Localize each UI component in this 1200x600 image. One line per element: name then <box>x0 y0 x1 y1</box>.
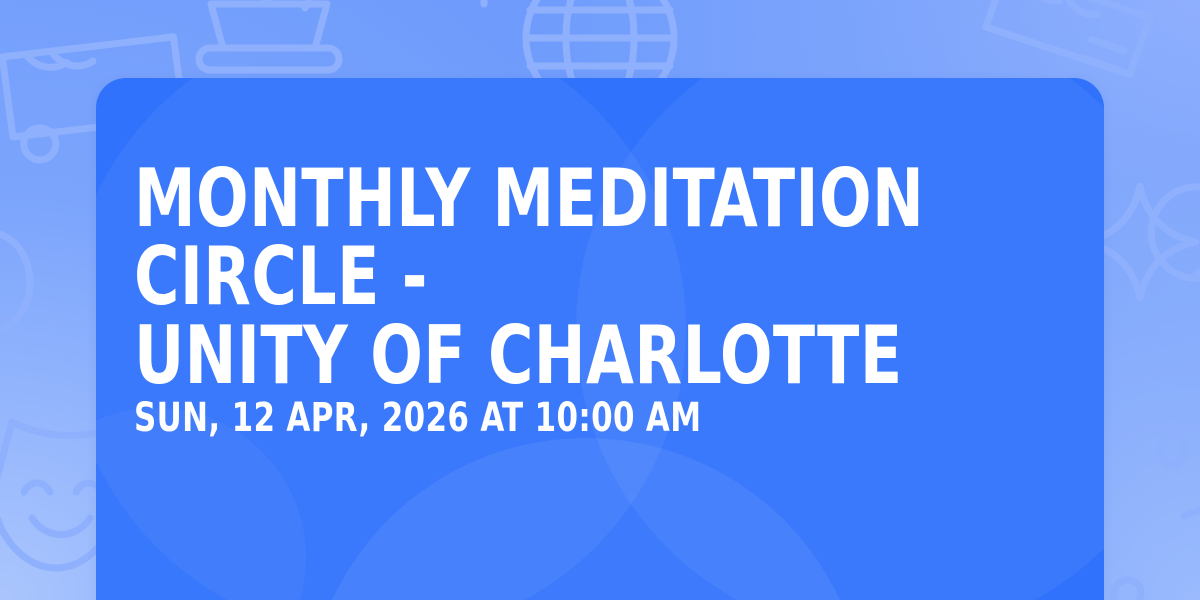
balloon-icon <box>0 232 30 396</box>
event-title: Monthly Meditation Circle - Unity of Cha… <box>134 160 936 395</box>
event-card[interactable]: Monthly Meditation Circle - Unity of Cha… <box>96 78 1104 600</box>
ticket-icon <box>982 0 1154 76</box>
streamer-icon <box>1118 427 1200 465</box>
podium-icon <box>199 0 339 70</box>
event-date: Sun, 12 Apr, 2026 at 10:00 AM <box>134 398 701 438</box>
event-banner: Monthly Meditation Circle - Unity of Cha… <box>0 0 1200 600</box>
card-content: Monthly Meditation Circle - Unity of Cha… <box>134 78 1066 600</box>
